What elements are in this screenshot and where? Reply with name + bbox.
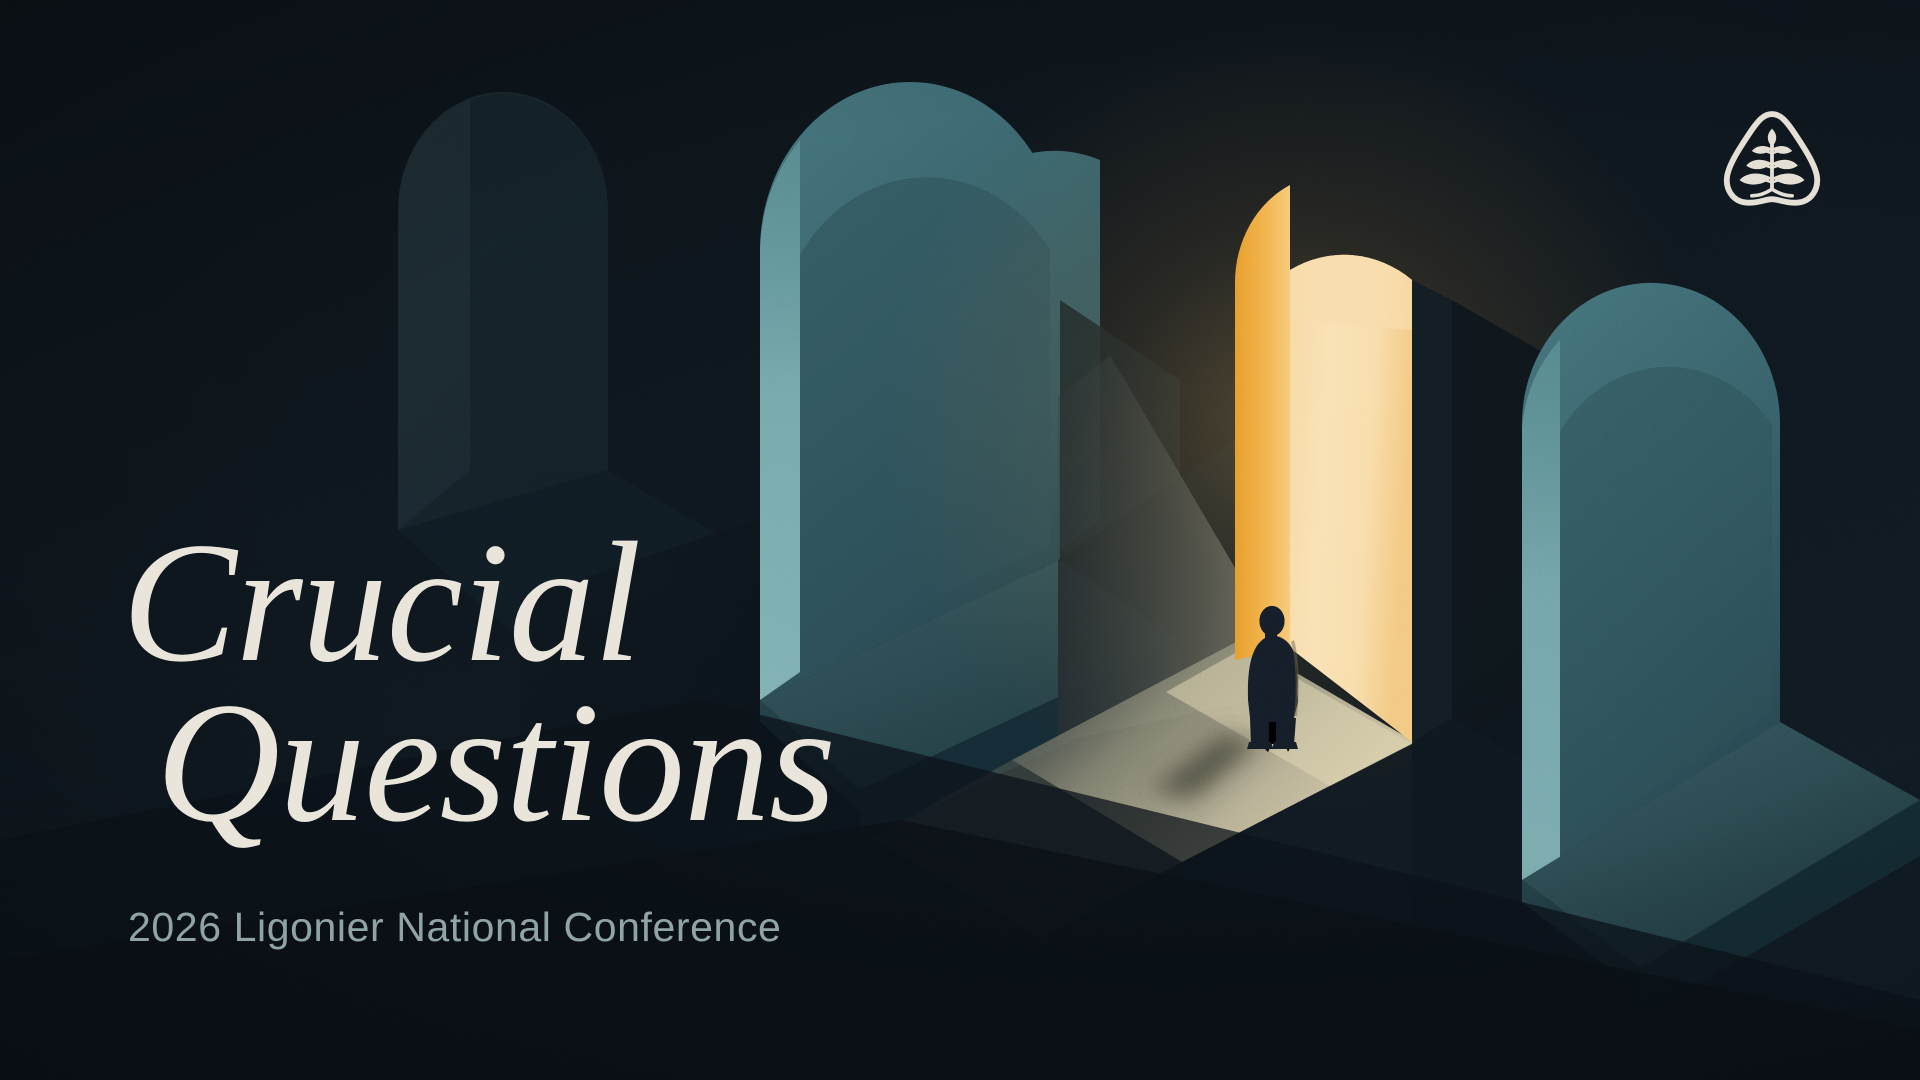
title-block: Crucial Questions 2026 Ligonier National… [122,524,1122,951]
conference-subtitle: 2026 Ligonier National Conference [128,904,1122,951]
ligonier-ministries-logo[interactable] [1716,104,1828,216]
conference-poster: Crucial Questions 2026 Ligonier National… [0,0,1920,1080]
page-title-line-2: Questions [156,684,1122,844]
far-left-faint-arch [398,92,608,530]
page-title-line-1: Crucial [122,524,1122,684]
burning-bush-icon [1716,104,1828,216]
